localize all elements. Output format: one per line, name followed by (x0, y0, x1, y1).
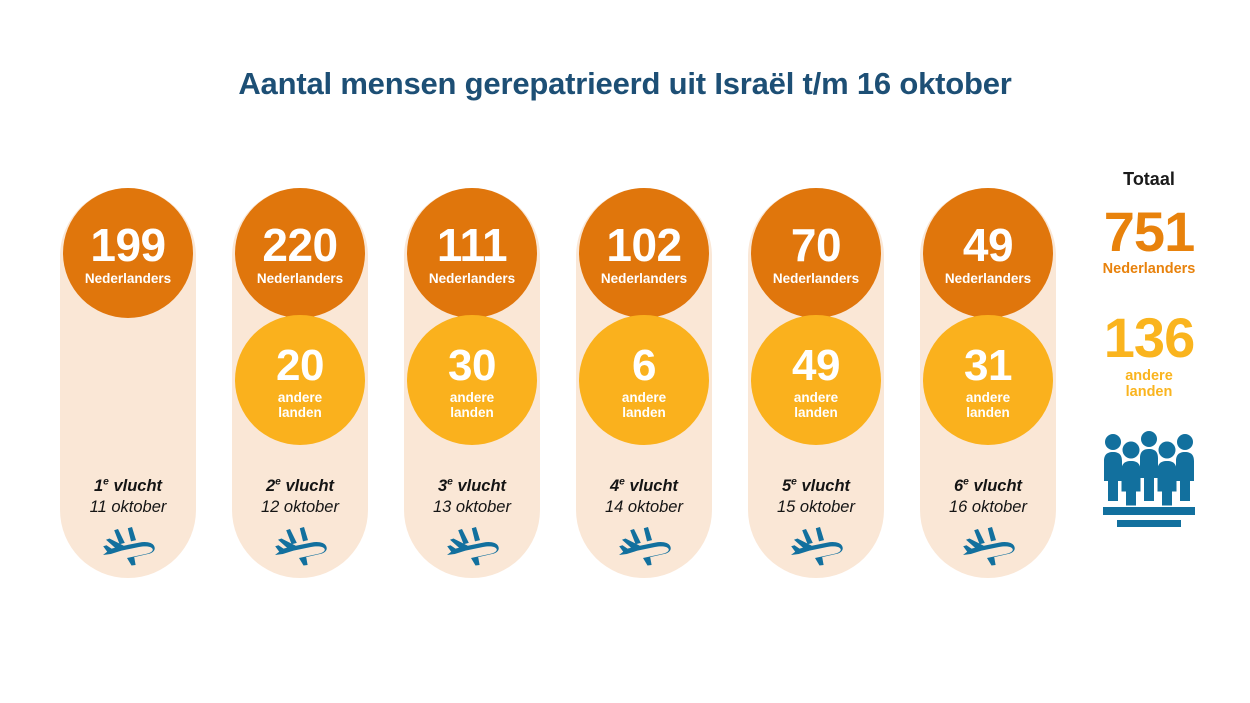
flight-column-4: 102 Nederlanders 6 anderelanden 4e vluch… (576, 188, 712, 578)
airplane-icon (445, 526, 499, 566)
flight-column-2: 220 Nederlanders 20 anderelanden 2e vluc… (232, 188, 368, 578)
flight-date: 12 oktober (232, 497, 368, 518)
nederlanders-label: Nederlanders (773, 272, 859, 287)
flight-column-3: 111 Nederlanders 30 anderelanden 3e vluc… (404, 188, 540, 578)
airplane-icon (617, 526, 671, 566)
total-nederlanders-block: 751 Nederlanders (1084, 206, 1214, 278)
flight-label: 6e vlucht 16 oktober (920, 476, 1056, 519)
nederlanders-count: 111 (437, 223, 507, 268)
total-andere-landen-count: 136 (1084, 312, 1214, 364)
totals-heading: Totaal (1084, 170, 1214, 190)
totals-panel: Totaal 751 Nederlanders 136 anderelanden (1084, 170, 1214, 527)
nederlanders-circle: 111 Nederlanders (407, 188, 537, 318)
flight-label: 1e vlucht 11 oktober (60, 476, 196, 519)
nederlanders-circle: 49 Nederlanders (923, 188, 1053, 318)
flight-ordinal: 3e vlucht (404, 476, 540, 497)
andere-landen-label: anderelanden (794, 391, 838, 420)
infographic-canvas: Aantal mensen gerepatrieerd uit Israël t… (0, 0, 1250, 703)
andere-landen-circle: 49 anderelanden (751, 315, 881, 445)
nederlanders-label: Nederlanders (601, 272, 687, 287)
nederlanders-label: Nederlanders (945, 272, 1031, 287)
flight-date: 14 oktober (576, 497, 712, 518)
andere-landen-circle: 6 anderelanden (579, 315, 709, 445)
nederlanders-count: 220 (262, 223, 337, 268)
flight-date: 16 oktober (920, 497, 1056, 518)
flight-column-5: 70 Nederlanders 49 anderelanden 5e vluch… (748, 188, 884, 578)
andere-landen-circle: 31 anderelanden (923, 315, 1053, 445)
flight-label: 5e vlucht 15 oktober (748, 476, 884, 519)
flight-label: 3e vlucht 13 oktober (404, 476, 540, 519)
flight-label: 2e vlucht 12 oktober (232, 476, 368, 519)
andere-landen-circle: 30 anderelanden (407, 315, 537, 445)
andere-landen-circle: 20 anderelanden (235, 315, 365, 445)
flight-date: 11 oktober (60, 497, 196, 518)
andere-landen-label: anderelanden (278, 391, 322, 420)
total-nederlanders-label: Nederlanders (1084, 262, 1214, 278)
total-andere-landen-block: 136 anderelanden (1084, 312, 1214, 400)
andere-landen-count: 20 (276, 344, 324, 387)
flight-date: 15 oktober (748, 497, 884, 518)
nederlanders-circle: 220 Nederlanders (235, 188, 365, 318)
flight-ordinal: 5e vlucht (748, 476, 884, 497)
people-group-icon (1084, 431, 1214, 527)
nederlanders-circle: 199 Nederlanders (63, 188, 193, 318)
total-andere-landen-label: anderelanden (1084, 369, 1214, 401)
flight-ordinal: 4e vlucht (576, 476, 712, 497)
andere-landen-count: 6 (632, 344, 656, 387)
nederlanders-count: 70 (791, 223, 841, 268)
andere-landen-label: anderelanden (966, 391, 1010, 420)
andere-landen-count: 49 (792, 344, 840, 387)
flight-column-6: 49 Nederlanders 31 anderelanden 6e vluch… (920, 188, 1056, 578)
total-nederlanders-count: 751 (1084, 206, 1214, 258)
nederlanders-count: 199 (90, 223, 165, 268)
nederlanders-label: Nederlanders (257, 272, 343, 287)
flight-ordinal: 2e vlucht (232, 476, 368, 497)
flight-label: 4e vlucht 14 oktober (576, 476, 712, 519)
andere-landen-label: anderelanden (450, 391, 494, 420)
airplane-icon (961, 526, 1015, 566)
flight-date: 13 oktober (404, 497, 540, 518)
page-title: Aantal mensen gerepatrieerd uit Israël t… (0, 66, 1250, 102)
flight-column-1: 199 Nederlanders 1e vlucht 11 oktober (60, 188, 196, 578)
flight-columns: 199 Nederlanders 1e vlucht 11 oktober 22… (60, 188, 1080, 580)
nederlanders-circle: 70 Nederlanders (751, 188, 881, 318)
andere-landen-count: 31 (964, 344, 1012, 387)
flight-ordinal: 6e vlucht (920, 476, 1056, 497)
nederlanders-count: 102 (606, 223, 681, 268)
nederlanders-count: 49 (963, 223, 1013, 268)
nederlanders-label: Nederlanders (429, 272, 515, 287)
airplane-icon (789, 526, 843, 566)
nederlanders-label: Nederlanders (85, 272, 171, 287)
nederlanders-circle: 102 Nederlanders (579, 188, 709, 318)
airplane-icon (273, 526, 327, 566)
airplane-icon (101, 526, 155, 566)
andere-landen-count: 30 (448, 344, 496, 387)
andere-landen-label: anderelanden (622, 391, 666, 420)
flight-ordinal: 1e vlucht (60, 476, 196, 497)
